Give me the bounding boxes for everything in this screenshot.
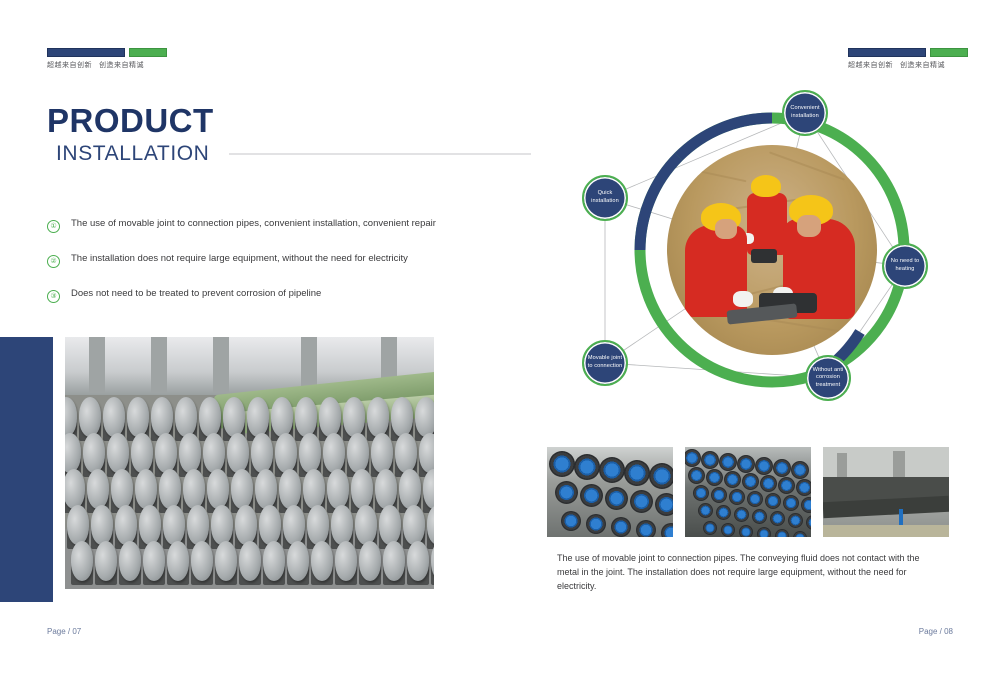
photo-detail	[351, 469, 373, 509]
photo-detail	[715, 219, 737, 239]
bullet-number-icon: ②	[47, 255, 60, 268]
photo-detail	[211, 505, 233, 545]
photo-detail	[698, 503, 713, 518]
photo-detail	[407, 541, 429, 581]
logo-bar-green-right	[930, 48, 968, 57]
photo-detail	[155, 433, 177, 473]
photo-detail	[187, 505, 209, 545]
list-item-text: The use of movable joint to connection p…	[71, 218, 436, 230]
photo-detail	[703, 521, 717, 535]
photo-detail	[65, 469, 85, 509]
photo-detail	[143, 541, 165, 581]
footer-page-right: Page / 08	[919, 627, 953, 636]
photo-detail	[755, 457, 773, 475]
photo-detail	[367, 397, 389, 437]
logo-slogan: 超越来自创新创造来自精诚	[47, 60, 167, 70]
photo-detail	[721, 523, 735, 537]
photo-detail	[311, 541, 333, 581]
photo-detail	[711, 487, 727, 503]
logo-bar-navy-right	[848, 48, 926, 57]
photo-detail	[251, 433, 273, 473]
photo-detail	[701, 451, 719, 469]
photo-detail	[724, 471, 741, 488]
photo-detail	[83, 433, 105, 473]
photo-detail	[67, 505, 89, 545]
page-title: PRODUCT INSTALLATION	[47, 104, 531, 164]
photo-detail	[788, 513, 803, 528]
title-sub: INSTALLATION	[47, 143, 209, 164]
photo-detail	[893, 451, 905, 477]
node-label: No need to heating	[884, 258, 926, 273]
list-item: ② The installation does not require larg…	[47, 253, 477, 268]
photo-caption: The use of movable joint to connection p…	[557, 552, 929, 594]
photo-detail	[307, 505, 329, 545]
photo-detail	[335, 541, 357, 581]
slogan-part-2: 创造来自精诚	[99, 61, 144, 69]
photo-detail	[295, 397, 317, 437]
photo-detail	[751, 175, 781, 197]
photo-detail	[801, 497, 811, 513]
photo-detail	[263, 541, 285, 581]
photo-detail	[580, 484, 603, 507]
photo-detail	[355, 505, 377, 545]
photo-detail	[561, 511, 581, 531]
logo-bars-right	[848, 48, 968, 57]
photo-detail	[223, 397, 245, 437]
photo-detail	[65, 541, 434, 587]
photo-detail	[95, 541, 117, 581]
photo-detail	[586, 514, 606, 534]
photo-detail	[773, 459, 791, 477]
list-item: ③ Does not need to be treated to prevent…	[47, 288, 477, 303]
photo-detail	[751, 249, 777, 263]
photo-detail	[415, 397, 434, 437]
photo-detail	[79, 397, 101, 437]
photo-detail	[733, 291, 753, 307]
photo-detail	[287, 541, 309, 581]
photo-detail	[151, 337, 167, 393]
logo-slogan-right: 超越来自创新创造来自精诚	[848, 60, 968, 70]
photo-detail	[624, 460, 650, 486]
navy-accent-block	[0, 337, 53, 602]
photo-detail	[207, 469, 229, 509]
photo-detail	[661, 523, 673, 537]
workers-photo	[667, 145, 877, 355]
title-divider	[229, 153, 531, 155]
photo-detail	[235, 505, 257, 545]
photo-detail	[760, 475, 777, 492]
photo-detail	[299, 433, 321, 473]
photo-detail	[706, 469, 723, 486]
photo-detail	[630, 490, 653, 513]
photo-detail	[87, 469, 109, 509]
photo-detail	[757, 527, 771, 537]
slogan-part-1: 超越来自创新	[47, 61, 92, 69]
photo-detail	[259, 505, 281, 545]
photo-detail	[331, 505, 353, 545]
photo-detail	[770, 511, 785, 526]
photo-detail	[175, 397, 197, 437]
diagram-node-without-anti-corrosion[interactable]: Without anti corrosion treatment	[805, 355, 851, 401]
photo-detail	[797, 215, 821, 237]
photo-detail	[239, 541, 261, 581]
process-diagram: Convenient installation Quick installati…	[560, 78, 980, 423]
slogan-part-1-right: 超越来自创新	[848, 61, 893, 69]
photo-detail	[549, 451, 575, 477]
photo-detail	[359, 541, 381, 581]
diagram-node-convenient-installation[interactable]: Convenient installation	[782, 90, 828, 136]
photo-detail	[303, 469, 325, 509]
photo-detail	[747, 193, 787, 255]
list-item-text: Does not need to be treated to prevent c…	[71, 288, 321, 300]
photo-detail	[135, 469, 157, 509]
title-sub-row: INSTALLATION	[47, 143, 531, 164]
photo-detail	[693, 485, 709, 501]
photo-detail	[395, 433, 417, 473]
photo-detail	[119, 541, 141, 581]
photo-detail	[131, 433, 153, 473]
footer-page-left: Page / 07	[47, 627, 81, 636]
photo-detail	[649, 463, 673, 489]
photo-detail	[247, 397, 269, 437]
photo-detail	[371, 433, 393, 473]
list-item-text: The installation does not require large …	[71, 253, 408, 265]
photo-detail	[775, 529, 789, 537]
photo-detail	[747, 491, 763, 507]
photo-detail	[729, 489, 745, 505]
photo-detail	[383, 541, 405, 581]
photo-detail	[655, 493, 673, 516]
photo-detail	[765, 493, 781, 509]
diagram-node-quick-installation[interactable]: Quick installation	[582, 175, 628, 221]
photo-detail	[403, 505, 425, 545]
photo-detail	[159, 469, 181, 509]
header-logo-right: 超越来自创新创造来自精诚	[848, 48, 968, 70]
photo-detail	[716, 505, 731, 520]
photo-pipe-rows	[65, 397, 434, 589]
logo-bar-green	[129, 48, 167, 57]
photo-detail	[203, 433, 225, 473]
photo-detail	[151, 397, 173, 437]
photo-detail	[283, 505, 305, 545]
feature-list: ① The use of movable joint to connection…	[47, 218, 477, 323]
photo-detail	[255, 469, 277, 509]
bullet-number-icon: ①	[47, 220, 60, 233]
photo-detail	[375, 469, 397, 509]
photo-detail	[347, 433, 369, 473]
photo-detail	[275, 433, 297, 473]
photo-detail	[734, 507, 749, 522]
list-item: ① The use of movable joint to connection…	[47, 218, 477, 233]
photo-detail	[199, 397, 221, 437]
node-label: Without anti corrosion treatment	[807, 367, 849, 390]
photo-detail	[227, 433, 249, 473]
title-main: PRODUCT	[47, 104, 531, 137]
photo-detail	[163, 505, 185, 545]
photo-detail	[391, 397, 413, 437]
photo-detail	[742, 473, 759, 490]
photo-detail	[327, 469, 349, 509]
node-label: Movable joint to connection	[584, 355, 626, 370]
photo-detail	[191, 541, 213, 581]
photo-detail	[71, 541, 93, 581]
photo-detail	[183, 469, 205, 509]
pipe-photo-1	[547, 447, 673, 537]
header-logo-left: 超越来自创新创造来自精诚	[47, 48, 167, 70]
pipe-stack-photo	[65, 337, 434, 589]
pipe-photo-3	[823, 447, 949, 537]
photo-detail	[107, 433, 129, 473]
photo-detail	[215, 541, 237, 581]
node-label: Quick installation	[584, 190, 626, 205]
logo-bars	[47, 48, 167, 57]
photo-detail	[719, 453, 737, 471]
photo-detail	[319, 397, 341, 437]
photo-detail	[555, 481, 578, 504]
photo-detail	[837, 453, 847, 477]
node-label: Convenient installation	[784, 105, 826, 120]
photo-detail	[399, 469, 421, 509]
slogan-part-2-right: 创造来自精诚	[900, 61, 945, 69]
photo-detail	[167, 541, 189, 581]
photo-detail	[599, 457, 625, 483]
photo-detail	[783, 495, 799, 511]
photo-detail	[127, 397, 149, 437]
photo-detail	[823, 525, 949, 537]
pipe-photo-2	[685, 447, 811, 537]
photo-detail	[89, 337, 105, 393]
photo-detail	[323, 433, 345, 473]
photo-detail	[605, 487, 628, 510]
photo-detail	[111, 469, 133, 509]
brochure-spread: 超越来自创新创造来自精诚 超越来自创新创造来自精诚 PRODUCT INSTAL…	[0, 0, 1000, 682]
photo-detail	[419, 433, 434, 473]
photo-detail	[796, 479, 811, 496]
photo-detail	[115, 505, 137, 545]
photo-detail	[231, 469, 253, 509]
photo-detail	[213, 337, 229, 393]
photo-detail	[688, 467, 705, 484]
photo-detail	[611, 517, 631, 537]
photo-detail	[103, 397, 125, 437]
photo-detail	[139, 505, 161, 545]
photo-detail	[279, 469, 301, 509]
photo-detail	[752, 509, 767, 524]
diagram-node-no-need-heating[interactable]: No need to heating	[882, 243, 928, 289]
logo-bar-navy	[47, 48, 125, 57]
diagram-node-movable-joint[interactable]: Movable joint to connection	[582, 340, 628, 386]
photo-detail	[778, 477, 795, 494]
photo-detail	[343, 397, 365, 437]
photo-detail	[379, 505, 401, 545]
bullet-number-icon: ③	[47, 290, 60, 303]
photo-detail	[636, 520, 656, 537]
photo-detail	[91, 505, 113, 545]
photo-detail	[791, 461, 809, 479]
photo-detail	[179, 433, 201, 473]
photo-detail	[739, 525, 753, 537]
photo-detail	[271, 397, 293, 437]
photo-detail	[737, 455, 755, 473]
photo-detail	[574, 454, 600, 480]
